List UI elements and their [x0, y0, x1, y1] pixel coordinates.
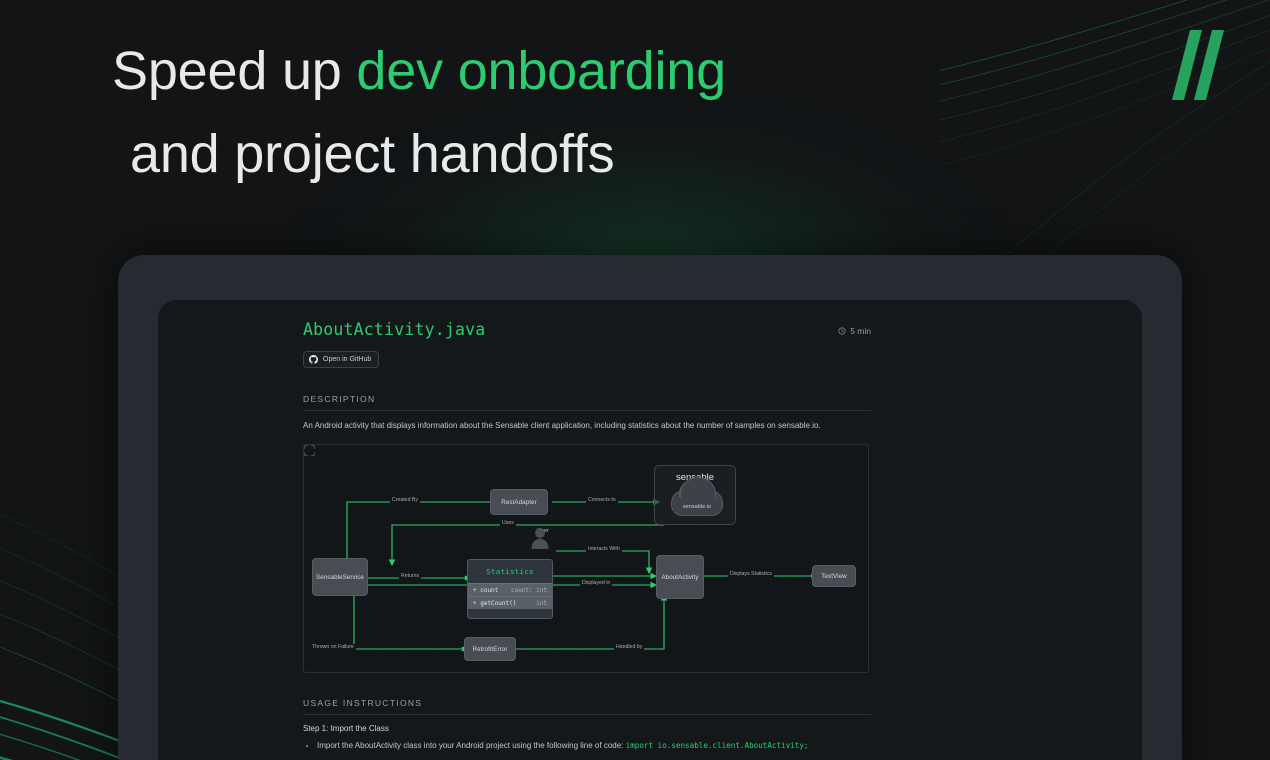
node-label: SensableService [316, 574, 364, 581]
usage-bullet-item: Import the AboutActivity class into your… [317, 740, 871, 752]
page-root: Speed up dev onboarding and project hand… [0, 0, 1270, 760]
node-retrofit-error[interactable]: RetrofitError [464, 637, 516, 661]
doc-panel: AboutActivity.java 5 min Open in GitHub [303, 320, 871, 760]
edge-label-created-by: Created By [390, 497, 420, 503]
device-frame: AboutActivity.java 5 min Open in GitHub [118, 255, 1182, 760]
hero-heading: Speed up dev onboarding and project hand… [112, 30, 872, 196]
class-row-right: count: int [511, 587, 547, 594]
description-heading: DESCRIPTION [303, 394, 871, 411]
hero-line1-accent: dev onboarding [356, 41, 726, 101]
edge-label-displays-statistics: Displays Statistics [728, 571, 774, 577]
cloud-label: sensable.io [683, 504, 711, 510]
node-label: AboutActivity [661, 574, 698, 581]
hero-line1-plain: Speed up [112, 41, 356, 101]
class-title: Statistics [468, 560, 552, 583]
group-sensable: sensable sensable.io [654, 465, 736, 525]
description-text: An Android activity that displays inform… [303, 420, 871, 432]
read-time-label: 5 min [850, 326, 871, 336]
node-text-view[interactable]: TextView [812, 565, 856, 587]
node-label: RestAdapter [501, 499, 537, 506]
open-in-github-button[interactable]: Open in GitHub [303, 351, 379, 368]
edge-label-uses: Uses [500, 520, 516, 526]
clock-icon [838, 327, 846, 335]
usage-bullets: Import the AboutActivity class into your… [317, 740, 871, 752]
open-in-github-label: Open in GitHub [323, 356, 371, 363]
swoosh-lines-top-right [940, 0, 1270, 260]
class-row-right: int [536, 600, 547, 607]
architecture-diagram[interactable]: SensableService RestAdapter AboutActivit… [303, 444, 869, 673]
edge-label-thrown-on-failure: Thrown on Failure [310, 644, 356, 650]
device-screen: AboutActivity.java 5 min Open in GitHub [158, 300, 1142, 760]
doc-header: AboutActivity.java 5 min [303, 320, 871, 339]
user-icon [530, 527, 550, 549]
edge-label-displayed-in: Displayed in [580, 580, 612, 586]
edge-label-handled-by: Handled by [614, 644, 644, 650]
usage-heading: USAGE INSTRUCTIONS [303, 698, 871, 715]
edge-label-returns: Returns [399, 573, 421, 579]
class-row-left: + getCount() [473, 600, 516, 607]
class-row-left: + count [473, 587, 498, 594]
node-user[interactable]: User [530, 527, 556, 534]
usage-bullet-text: Import the AboutActivity class into your… [317, 741, 626, 750]
node-about-activity[interactable]: AboutActivity [656, 555, 704, 599]
node-statistics-class[interactable]: Statistics + count count: int + getCount… [467, 559, 553, 619]
edge-label-connects-to: Connects to [586, 497, 618, 503]
node-label: TextView [821, 573, 846, 580]
node-sensable-service[interactable]: SensableService [312, 558, 368, 596]
node-rest-adapter[interactable]: RestAdapter [490, 489, 548, 515]
read-time: 5 min [838, 320, 871, 336]
diagram-edges [304, 445, 869, 673]
github-icon [309, 355, 318, 364]
node-label: RetrofitError [473, 646, 508, 653]
double-slash-logo [1150, 30, 1224, 100]
edge-label-interacts-with: Interacts With [586, 546, 622, 552]
class-row: + count count: int [468, 583, 552, 596]
class-row: + getCount() int [468, 596, 552, 609]
page-title: AboutActivity.java [303, 320, 485, 339]
usage-step: Step 1: Import the Class [303, 724, 871, 733]
node-sensable-cloud[interactable]: sensable.io [671, 490, 723, 516]
hero-line2: and project handoffs [112, 113, 872, 196]
usage-bullet-code: import io.sensable.client.AboutActivity; [626, 741, 809, 750]
